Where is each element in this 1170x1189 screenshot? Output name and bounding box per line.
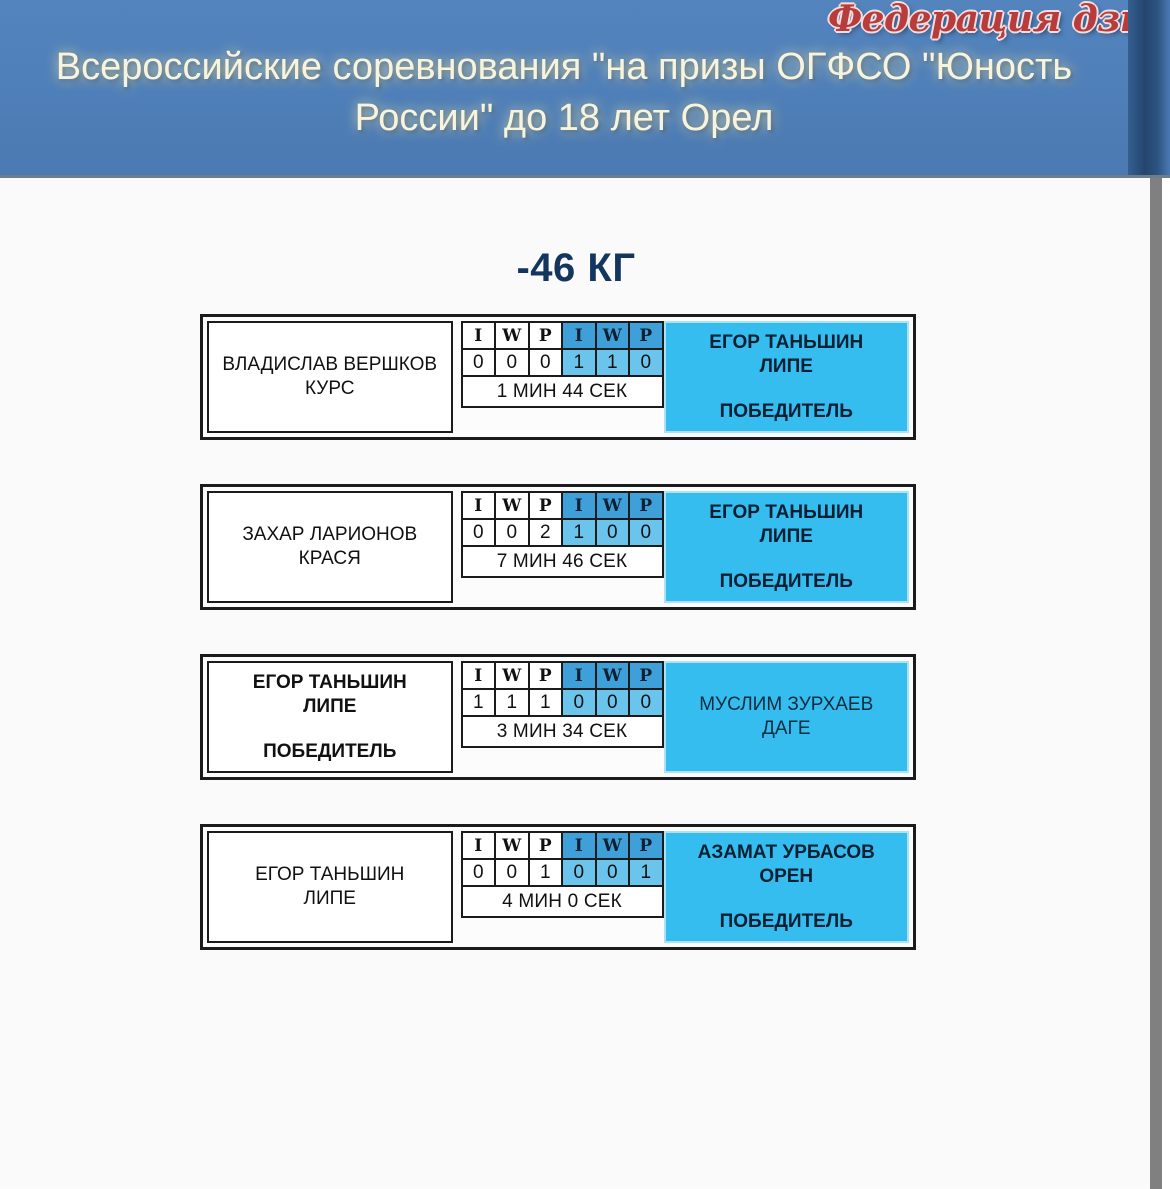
score-header-row: IWPIWP <box>462 832 663 859</box>
score-area: IWPIWP1110003 МИН 34 СЕК <box>453 657 664 777</box>
match-time: 7 МИН 46 СЕК <box>462 546 663 577</box>
results-sheet: -46 КГ ВЛАДИСЛАВ ВЕРШКОВКУРСIWPIWP000110… <box>0 178 1152 1186</box>
score-value-cell: 0 <box>495 349 529 376</box>
weight-category-title: -46 КГ <box>0 178 1152 291</box>
score-header-cell: P <box>629 492 663 519</box>
score-value-row: 000110 <box>462 349 663 376</box>
score-value-cell: 2 <box>529 519 563 546</box>
score-value-cell: 1 <box>529 689 563 716</box>
score-value-cell: 1 <box>529 859 563 886</box>
score-header-cell: W <box>596 492 630 519</box>
score-value-cell: 0 <box>462 859 496 886</box>
score-table: IWPIWP0001101 МИН 44 СЕК <box>461 321 664 408</box>
left-competitor-box: ВЛАДИСЛАВ ВЕРШКОВКУРС <box>207 321 453 433</box>
competitor-name: ЕГОР ТАНЬШИН <box>255 863 404 887</box>
competitor-club: ЛИПЕ <box>303 695 356 719</box>
score-value-row: 002100 <box>462 519 663 546</box>
match-time-row: 1 МИН 44 СЕК <box>462 376 663 407</box>
score-value-cell: 0 <box>529 349 563 376</box>
score-value-cell: 1 <box>462 689 496 716</box>
winner-label: ПОБЕДИТЕЛЬ <box>720 401 853 423</box>
competitor-club: КУРС <box>305 377 355 401</box>
score-header-cell: W <box>495 832 529 859</box>
score-area: IWPIWP0001101 МИН 44 СЕК <box>453 317 664 437</box>
competitor-name: ЕГОР ТАНЬШИН <box>709 331 863 355</box>
score-area: IWPIWP0021007 МИН 46 СЕК <box>453 487 664 607</box>
score-table: IWPIWP1110003 МИН 34 СЕК <box>461 661 664 748</box>
left-competitor-box: ЕГОР ТАНЬШИНЛИПЕ <box>207 831 453 943</box>
score-header-row: IWPIWP <box>462 322 663 349</box>
right-competitor-box: ЕГОР ТАНЬШИНЛИПЕПОБЕДИТЕЛЬ <box>664 321 910 433</box>
score-value-cell: 0 <box>629 349 663 376</box>
score-value-row: 001001 <box>462 859 663 886</box>
score-area: IWPIWP0010014 МИН 0 СЕК <box>453 827 664 947</box>
score-header-cell: P <box>529 322 563 349</box>
score-header-cell: W <box>596 832 630 859</box>
federation-logo-text: Федерация дзюдо России <box>828 0 1170 40</box>
right-competitor-box: АЗАМАТ УРБАСОВОРЕНПОБЕДИТЕЛЬ <box>664 831 910 943</box>
score-header-cell: P <box>629 662 663 689</box>
score-value-cell: 0 <box>629 689 663 716</box>
competitor-club: КРАСЯ <box>299 547 361 571</box>
competitor-club: ЛИПЕ <box>760 355 813 379</box>
competitor-name: АЗАМАТ УРБАСОВ <box>698 841 875 865</box>
match-time-row: 4 МИН 0 СЕК <box>462 886 663 917</box>
winner-label: ПОБЕДИТЕЛЬ <box>720 911 853 933</box>
match-card: ЗАХАР ЛАРИОНОВКРАСЯIWPIWP0021007 МИН 46 … <box>200 484 916 610</box>
score-value-cell: 0 <box>495 859 529 886</box>
score-table: IWPIWP0010014 МИН 0 СЕК <box>461 831 664 918</box>
score-value-cell: 0 <box>462 519 496 546</box>
score-header-cell: W <box>596 662 630 689</box>
match-list: ВЛАДИСЛАВ ВЕРШКОВКУРСIWPIWP0001101 МИН 4… <box>0 314 1152 950</box>
competitor-name: МУСЛИМ ЗУРХАЕВ <box>699 693 873 717</box>
score-header-cell: W <box>495 662 529 689</box>
competitor-name: ЕГОР ТАНЬШИН <box>253 671 407 695</box>
competition-title: Всероссийские соревнования "на призы ОГФ… <box>0 42 1128 145</box>
score-header-cell: P <box>629 322 663 349</box>
score-header-cell: I <box>562 832 596 859</box>
score-header-cell: W <box>596 322 630 349</box>
score-value-cell: 1 <box>629 859 663 886</box>
right-competitor-box: МУСЛИМ ЗУРХАЕВДАГЕ <box>664 661 910 773</box>
match-time-row: 3 МИН 34 СЕК <box>462 716 663 747</box>
score-value-cell: 0 <box>629 519 663 546</box>
score-header-cell: W <box>495 322 529 349</box>
score-value-cell: 1 <box>562 519 596 546</box>
score-header-cell: I <box>462 662 496 689</box>
competitor-name: ЕГОР ТАНЬШИН <box>709 501 863 525</box>
score-value-cell: 0 <box>596 519 630 546</box>
winner-label: ПОБЕДИТЕЛЬ <box>263 741 396 763</box>
left-competitor-box: ЕГОР ТАНЬШИНЛИПЕПОБЕДИТЕЛЬ <box>207 661 453 773</box>
score-value-cell: 0 <box>562 689 596 716</box>
score-header-cell: P <box>529 492 563 519</box>
vertical-scrollbar-thumb[interactable] <box>1150 178 1162 1189</box>
match-time: 4 МИН 0 СЕК <box>462 886 663 917</box>
competitor-club: ОРЕН <box>759 865 813 889</box>
score-value-cell: 0 <box>562 859 596 886</box>
score-value-cell: 0 <box>462 349 496 376</box>
right-competitor-box: ЕГОР ТАНЬШИНЛИПЕПОБЕДИТЕЛЬ <box>664 491 910 603</box>
score-header-cell: P <box>629 832 663 859</box>
score-value-cell: 0 <box>596 689 630 716</box>
competitor-club: ЛИПЕ <box>760 525 813 549</box>
score-header-cell: I <box>562 492 596 519</box>
score-value-cell: 0 <box>495 519 529 546</box>
score-value-cell: 1 <box>596 349 630 376</box>
score-header-row: IWPIWP <box>462 492 663 519</box>
score-header-cell: I <box>562 322 596 349</box>
match-card: ВЛАДИСЛАВ ВЕРШКОВКУРСIWPIWP0001101 МИН 4… <box>200 314 916 440</box>
score-header-row: IWPIWP <box>462 662 663 689</box>
score-header-cell: P <box>529 662 563 689</box>
score-value-cell: 1 <box>562 349 596 376</box>
banner-right-edge <box>1128 0 1170 178</box>
match-card: ЕГОР ТАНЬШИНЛИПЕIWPIWP0010014 МИН 0 СЕКА… <box>200 824 916 950</box>
score-header-cell: I <box>462 322 496 349</box>
match-time: 1 МИН 44 СЕК <box>462 376 663 407</box>
competitor-name: ЗАХАР ЛАРИОНОВ <box>242 523 417 547</box>
competitor-name: ВЛАДИСЛАВ ВЕРШКОВ <box>222 353 437 377</box>
match-time-row: 7 МИН 46 СЕК <box>462 546 663 577</box>
score-table: IWPIWP0021007 МИН 46 СЕК <box>461 491 664 578</box>
score-value-row: 111000 <box>462 689 663 716</box>
score-header-cell: I <box>462 832 496 859</box>
score-header-cell: I <box>462 492 496 519</box>
page-banner: Федерация дзюдо России Всероссийские сор… <box>0 0 1170 178</box>
score-value-cell: 1 <box>495 689 529 716</box>
match-time: 3 МИН 34 СЕК <box>462 716 663 747</box>
score-value-cell: 0 <box>596 859 630 886</box>
score-header-cell: W <box>495 492 529 519</box>
score-header-cell: I <box>562 662 596 689</box>
left-competitor-box: ЗАХАР ЛАРИОНОВКРАСЯ <box>207 491 453 603</box>
winner-label: ПОБЕДИТЕЛЬ <box>720 571 853 593</box>
match-card: ЕГОР ТАНЬШИНЛИПЕПОБЕДИТЕЛЬIWPIWP1110003 … <box>200 654 916 780</box>
score-header-cell: P <box>529 832 563 859</box>
competitor-club: ЛИПЕ <box>304 887 356 911</box>
competitor-club: ДАГЕ <box>762 717 811 741</box>
